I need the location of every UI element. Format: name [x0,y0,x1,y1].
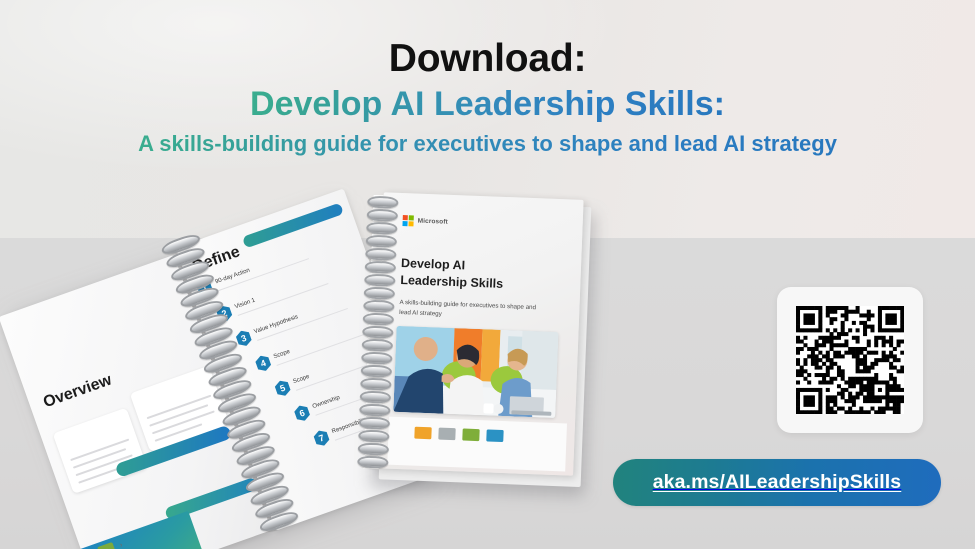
spiral-coil [366,235,397,248]
promo-banner: Download: Develop AI Leadership Skills: … [0,0,975,549]
page-title: Develop AI Leadership Skills: [246,84,729,125]
spiral-coil [364,287,395,300]
booklet-cover: Microsoft Develop AI Leadership Skills A… [373,192,583,475]
spiral-coil [367,209,398,222]
spiral-coil [360,391,391,404]
cta-url-label: aka.ms/AILeadershipSkills [653,471,902,494]
booklet-subtitle: A skills-building guide for executives t… [399,298,542,323]
step-hex-7: 7 [311,428,331,448]
spiral-coil [363,313,394,326]
swatch-green [462,428,479,441]
headline-kicker: Download: [0,38,975,80]
microsoft-wordmark: Microsoft [418,218,448,226]
spiral-coil [364,274,395,287]
spiral-coil [365,261,396,274]
step-hex-5: 5 [272,378,292,398]
qr-code-card[interactable] [777,287,923,433]
spiral-coil [362,339,393,352]
headline-block: Download: Develop AI Leadership Skills: … [0,38,975,157]
cta-link-button[interactable]: aka.ms/AILeadershipSkills [613,459,941,506]
spiral-coil [367,196,398,209]
notebook-card-how-to-use [53,408,148,494]
spiral-coil [358,429,389,442]
qr-code[interactable] [796,306,904,414]
page-subtitle: A skills-building guide for executives t… [134,130,841,158]
spiral-coil [359,403,390,416]
spiral-coil [357,455,388,468]
notebook-overview-heading: Overview [41,372,114,413]
booklet-cover-photo [393,326,558,418]
spiral-coil [361,365,392,378]
swatch-gray [438,428,455,441]
step-hex-6: 6 [292,403,312,423]
step-hex-4: 4 [253,353,273,373]
microsoft-logo: Microsoft [402,215,448,228]
spiral-coil [362,326,393,339]
office-meeting-photo [393,326,558,418]
booklet-title: Develop AI Leadership Skills [400,255,551,294]
booklet-cover-footer [387,417,567,472]
spiral-coil [361,352,392,365]
swatch-blue [486,429,503,442]
spiral-coil [365,248,396,261]
step-label-5: Scope [292,374,310,385]
notebook-step-chips: 1 › 2 › 3 › [97,507,230,549]
step-label-4: Scope [273,349,291,360]
spiral-coil [358,442,389,455]
swatch-orange [414,427,431,440]
spiral-coil [360,378,391,391]
spiral-coil [359,416,390,429]
spiral-coil [363,300,394,313]
booklet-mockup: Microsoft Develop AI Leadership Skills A… [354,192,601,496]
microsoft-squares-icon [402,215,413,226]
spiral-coil [366,222,397,235]
